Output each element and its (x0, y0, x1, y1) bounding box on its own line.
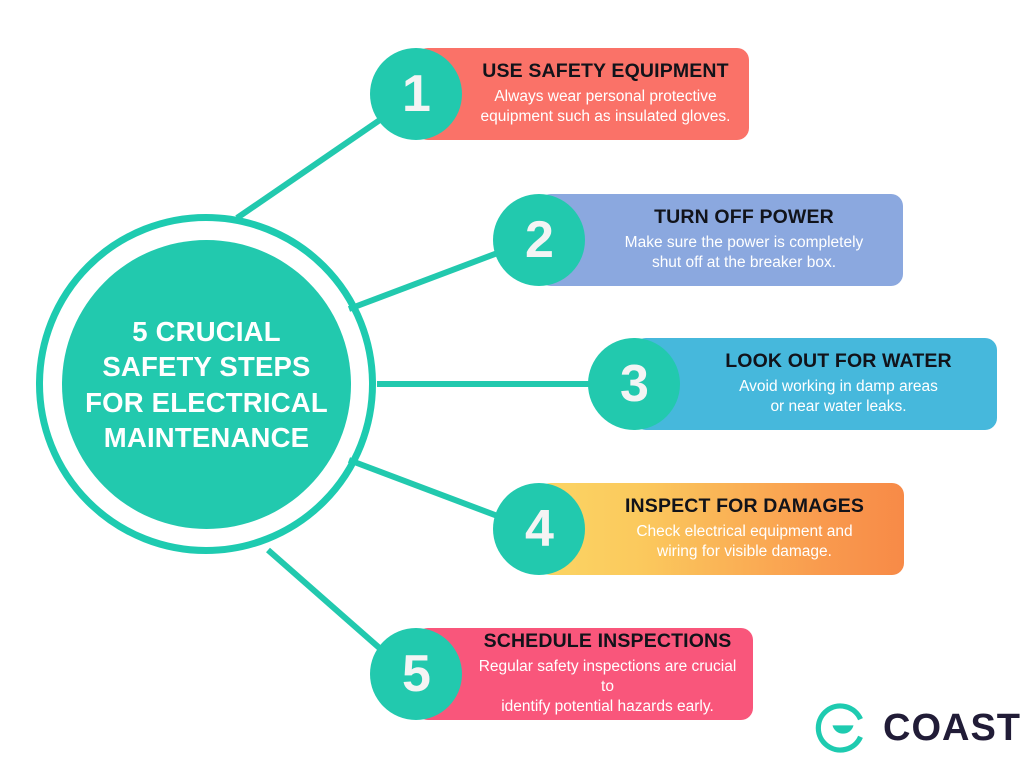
hub-circle: 5 CRUCIAL SAFETY STEPS FOR ELECTRICAL MA… (62, 240, 351, 529)
step-number-2: 2 (525, 214, 553, 266)
step-description-3: Avoid working in damp areas or near wate… (739, 377, 938, 417)
step-number-bubble-5: 5 (370, 628, 462, 720)
step-card-3: LOOK OUT FOR WATER Avoid working in damp… (634, 338, 997, 430)
step-title-2: TURN OFF POWER (654, 207, 834, 228)
step-description-1: Always wear personal protective equipmen… (481, 87, 731, 127)
step-number-bubble-1: 1 (370, 48, 462, 140)
step-description-2: Make sure the power is completely shut o… (625, 233, 864, 273)
brand-name: COAST (883, 709, 1021, 747)
step-number-1: 1 (402, 68, 430, 120)
step-card-4: INSPECT FOR DAMAGES Check electrical equ… (539, 483, 904, 575)
coast-circle-smile-icon (815, 700, 871, 756)
step-card-2: TURN OFF POWER Make sure the power is co… (539, 194, 903, 286)
step-number-bubble-2: 2 (493, 194, 585, 286)
step-title-1: USE SAFETY EQUIPMENT (482, 61, 728, 82)
step-number-5: 5 (402, 648, 430, 700)
page-title: 5 CRUCIAL SAFETY STEPS FOR ELECTRICAL MA… (79, 314, 334, 456)
step-title-3: LOOK OUT FOR WATER (725, 351, 952, 372)
step-title-4: INSPECT FOR DAMAGES (625, 496, 864, 517)
step-number-bubble-4: 4 (493, 483, 585, 575)
step-card-5: SCHEDULE INSPECTIONS Regular safety insp… (416, 628, 753, 720)
step-number-bubble-3: 3 (588, 338, 680, 430)
step-title-5: SCHEDULE INSPECTIONS (484, 631, 732, 652)
step-number-3: 3 (620, 358, 648, 410)
step-card-1: USE SAFETY EQUIPMENT Always wear persona… (416, 48, 749, 140)
step-description-4: Check electrical equipment and wiring fo… (636, 522, 852, 562)
brand-logo: COAST (815, 700, 1021, 756)
step-description-5: Regular safety inspections are crucial t… (478, 657, 737, 717)
infographic-canvas: 5 CRUCIAL SAFETY STEPS FOR ELECTRICAL MA… (0, 0, 1024, 768)
step-number-4: 4 (525, 503, 553, 555)
